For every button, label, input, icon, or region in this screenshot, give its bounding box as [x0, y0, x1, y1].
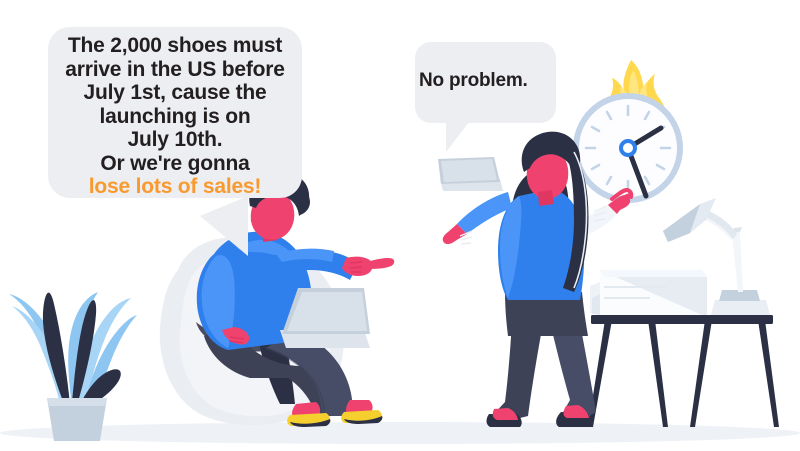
desk [588, 315, 779, 427]
bubble-left-main-text: The 2,000 shoes must arrive in the US be… [65, 34, 284, 175]
bubble-right-text: No problem. [419, 70, 555, 91]
desk-top [591, 315, 773, 324]
bubble-right-tail [446, 118, 472, 152]
floor-shadow [0, 422, 800, 444]
clock-center-pin [621, 141, 635, 155]
laptop-woman [438, 157, 503, 191]
pointing-finger [366, 258, 394, 269]
paper-stack [590, 270, 707, 315]
speech-bubble-right [415, 42, 556, 152]
bubble-left-text: The 2,000 shoes must arrive in the US be… [52, 34, 298, 199]
potted-plant [9, 292, 137, 441]
bubble-left-highlight-text: lose lots of sales! [52, 175, 298, 199]
illustration-canvas: The 2,000 shoes must arrive in the US be… [0, 0, 800, 451]
burning-clock [573, 60, 683, 203]
